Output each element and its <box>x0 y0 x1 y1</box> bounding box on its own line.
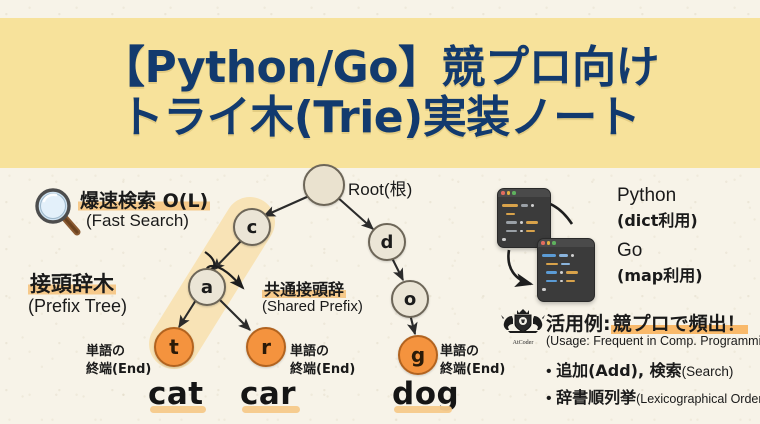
usage-title: 活用例:競プロで頻出！ <box>546 309 748 336</box>
go-window-titlebar <box>538 239 594 247</box>
go-arrow <box>508 250 531 284</box>
tree-node-a[interactable]: a <box>188 268 226 306</box>
end-marker-r-jp: 単語の <box>290 340 329 359</box>
maximize-dot-icon <box>552 241 556 245</box>
usage-subtitle: (Usage: Frequent in Comp. Programming!) <box>546 334 760 348</box>
minimize-dot-icon <box>547 241 551 245</box>
infographic-page: 【Python/Go】競プロ向け トライ木(Trie)実装ノート <box>0 0 760 424</box>
python-sublabel: (dict利用) <box>617 207 698 231</box>
word-dog-underline <box>394 406 452 413</box>
go-sublabel: (map利用) <box>617 262 703 286</box>
atcoder-logo: AtCoder <box>492 306 554 346</box>
edge-root-c <box>264 196 309 216</box>
tree-node-c[interactable]: c <box>233 208 271 246</box>
usage-title-prefix: 活用例: <box>546 313 611 335</box>
fast-search-label-jp: 爆速検索 O(L) <box>78 186 210 213</box>
end-marker-r-en: 終端(End) <box>290 358 355 377</box>
word-car-underline <box>242 406 300 413</box>
atcoder-logo-text: AtCoder <box>492 340 554 346</box>
usage-title-highlight: 競プロで頻出！ <box>611 313 748 335</box>
usage-bullet-1-en: (Search) <box>682 364 734 379</box>
python-label: Python <box>617 185 676 207</box>
tree-node-root[interactable] <box>303 164 345 206</box>
go-label: Go <box>617 240 642 262</box>
bullet-marker-icon: • <box>546 390 552 407</box>
shared-prefix-label-jp: 共通接頭辞 <box>262 276 346 300</box>
usage-bullet-1-jp: 追加(Add), 検索 <box>556 361 682 380</box>
atcoder-crest-icon <box>492 306 554 336</box>
go-code-window[interactable] <box>537 238 595 302</box>
end-marker-g-en: 終端(End) <box>440 358 505 377</box>
shared-prefix-label-en: (Shared Prefix) <box>262 298 363 315</box>
prefix-tree-label-jp: 接頭辞木 <box>28 268 116 298</box>
tree-node-g[interactable]: g <box>398 335 438 375</box>
end-marker-t-en: 終端(End) <box>86 358 151 377</box>
end-marker-g-jp: 単語の <box>440 340 479 359</box>
python-window-titlebar <box>498 189 550 197</box>
tree-node-o[interactable]: o <box>391 280 429 318</box>
word-cat-underline <box>150 406 206 413</box>
close-dot-icon <box>541 241 545 245</box>
usage-bullet-2-jp: 辞書順列挙 <box>556 388 636 407</box>
end-marker-t-jp: 単語の <box>86 340 125 359</box>
usage-bullet-2-en: (Lexicographical Order) <box>636 392 760 406</box>
close-dot-icon <box>501 191 505 195</box>
prefix-tree-label-en: (Prefix Tree) <box>28 296 127 317</box>
maximize-dot-icon <box>512 191 516 195</box>
tree-node-t[interactable]: t <box>154 327 194 367</box>
go-code-body <box>538 247 594 298</box>
usage-bullet-1: • 追加(Add), 検索(Search) <box>546 357 733 381</box>
bullet-marker-icon: • <box>546 363 552 380</box>
edge-root-d <box>336 196 373 229</box>
minimize-dot-icon <box>507 191 511 195</box>
usage-bullet-2: • 辞書順列挙(Lexicographical Order) <box>546 384 760 408</box>
root-label: Root(根) <box>348 175 412 200</box>
fast-search-label-en: (Fast Search) <box>86 211 189 231</box>
tree-node-d[interactable]: d <box>368 223 406 261</box>
tree-node-r[interactable]: r <box>246 327 286 367</box>
